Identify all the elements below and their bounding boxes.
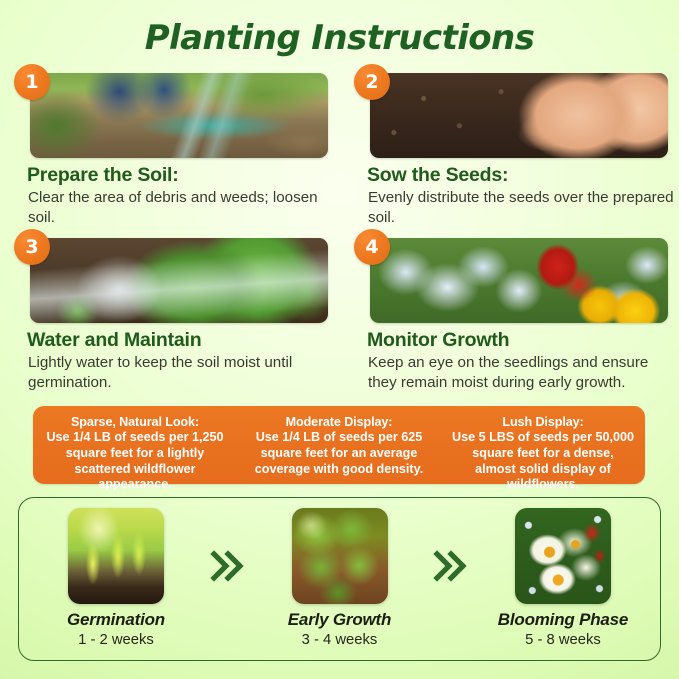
step-4-body: Keep an eye on the seedlings and ensure … [368, 353, 674, 392]
rate-sparse-title: Sparse, Natural Look: [71, 414, 199, 430]
germination-photo [68, 508, 164, 604]
rate-moderate-text: Use 1/4 LB of seeds per 625 square feet … [247, 430, 431, 477]
early-growth-label: Early Growth [265, 609, 415, 630]
rate-option-moderate: Moderate Display: Use 1/4 LB of seeds pe… [237, 406, 441, 484]
step-2-number-badge: 2 [354, 64, 390, 100]
rate-lush-title: Lush Display: [502, 414, 583, 430]
step-3-photo [30, 238, 328, 323]
timeline-phase-germination: Germination 1 - 2 weeks [41, 508, 191, 650]
blooming-phase-label: Blooming Phase [488, 609, 638, 630]
chevron-right-icon [206, 544, 250, 588]
blooming-phase-photo [515, 508, 611, 604]
timeline-phase-early-growth: Early Growth 3 - 4 weeks [265, 508, 415, 650]
step-2-body: Evenly distribute the seeds over the pre… [368, 188, 674, 227]
step-2-photo [370, 73, 668, 158]
step-1-heading: Prepare the Soil: [27, 164, 332, 187]
step-2-heading: Sow the Seeds: [367, 164, 672, 187]
page-title: Planting Instructions [0, 18, 679, 58]
step-1-photo [30, 73, 328, 158]
rate-moderate-title: Moderate Display: [286, 414, 393, 430]
timeline-phase-blooming: Blooming Phase 5 - 8 weeks [488, 508, 638, 650]
rate-option-lush: Lush Display: Use 5 LBS of seeds per 50,… [441, 406, 645, 484]
timeline-arrow-2-wrap [429, 544, 473, 614]
planting-instructions-infographic: Planting Instructions 1 Prepare the Soil… [0, 0, 679, 679]
growth-timeline: Germination 1 - 2 weeks Early Growth 3 -… [18, 497, 661, 661]
step-4-number-badge: 4 [354, 229, 390, 265]
chevron-right-icon [429, 544, 473, 588]
rate-lush-text: Use 5 LBS of seeds per 50,000 square fee… [451, 430, 635, 493]
germination-duration: 1 - 2 weeks [41, 630, 191, 650]
step-3-heading: Water and Maintain [27, 329, 332, 352]
rate-sparse-text: Use 1/4 LB of seeds per 1,250 square fee… [43, 430, 227, 493]
step-4-heading: Monitor Growth [367, 329, 672, 352]
seeding-rate-band: Sparse, Natural Look: Use 1/4 LB of seed… [33, 406, 645, 484]
rate-option-sparse: Sparse, Natural Look: Use 1/4 LB of seed… [33, 406, 237, 484]
step-3-number-badge: 3 [14, 229, 50, 265]
germination-label: Germination [41, 609, 191, 630]
timeline-arrow-1-wrap [206, 544, 250, 614]
step-1-number-badge: 1 [14, 64, 50, 100]
early-growth-duration: 3 - 4 weeks [265, 630, 415, 650]
early-growth-photo [292, 508, 388, 604]
step-3-body: Lightly water to keep the soil moist unt… [28, 353, 334, 392]
blooming-phase-duration: 5 - 8 weeks [488, 630, 638, 650]
step-1-body: Clear the area of debris and weeds; loos… [28, 188, 334, 227]
step-4-photo [370, 238, 668, 323]
